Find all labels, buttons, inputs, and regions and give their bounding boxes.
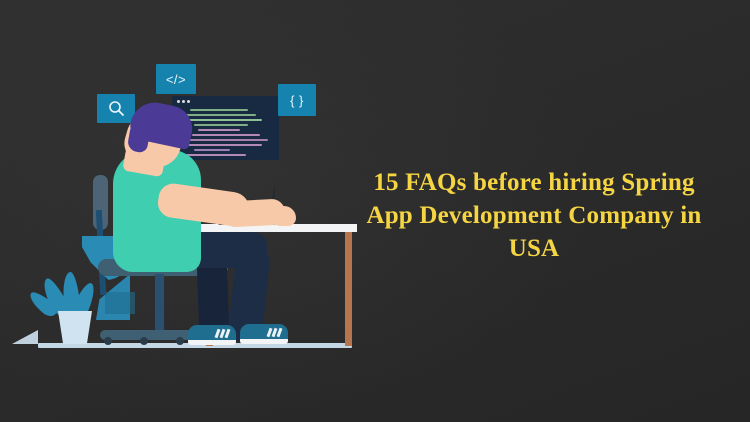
editor-code-line [192, 134, 260, 136]
developer-illustration: </> { } [0, 0, 400, 422]
editor-code-line [194, 149, 230, 151]
plant-pot [58, 311, 92, 344]
braces-badge: { } [278, 84, 316, 116]
code-tag-badge: </> [156, 64, 196, 94]
editor-code-line [184, 119, 262, 121]
floor-object [12, 330, 38, 344]
window-dot [187, 100, 190, 103]
chair-caster [176, 337, 184, 345]
chair-caster [140, 337, 148, 345]
page-title: 15 FAQs before hiring Spring App Develop… [358, 166, 710, 265]
banner-image: </> { } [0, 0, 750, 422]
editor-title-bar [172, 96, 279, 105]
search-icon [108, 100, 125, 117]
window-dot [177, 100, 180, 103]
shoe-stripe [277, 328, 283, 337]
shoe-sole [188, 340, 236, 345]
background-prop-small [105, 292, 135, 314]
window-dot [182, 100, 185, 103]
editor-code-line [182, 139, 268, 141]
editor-code-line [198, 129, 240, 131]
editor-code-line [194, 124, 248, 126]
person-hand [272, 206, 296, 226]
editor-code-line [188, 144, 262, 146]
chair-column [155, 274, 164, 334]
editor-code-line [186, 114, 256, 116]
braces-badge-label: { } [290, 93, 304, 108]
shoe-stripe [225, 329, 231, 338]
editor-code-line [190, 109, 248, 111]
code-tag-badge-label: </> [166, 72, 186, 87]
shoe-sole [240, 339, 288, 344]
search-badge [97, 94, 135, 123]
chair-caster [104, 337, 112, 345]
editor-code-line [186, 154, 246, 156]
desk-leg [345, 232, 352, 346]
